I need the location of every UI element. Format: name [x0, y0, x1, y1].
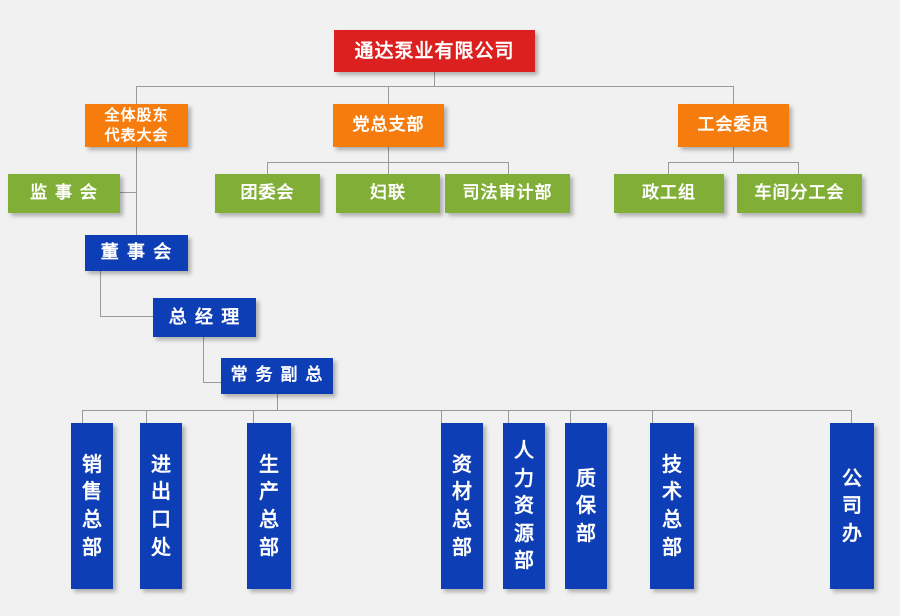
node-party-branch[interactable]: 党总支部	[333, 104, 444, 147]
node-youth-league-label: 团委会	[241, 183, 295, 205]
node-executive-vp[interactable]: 常 务 副 总	[221, 358, 333, 394]
node-department-label: 生产总部	[259, 451, 279, 561]
connector-drop-dept-4	[508, 410, 509, 423]
node-department-label: 质保部	[576, 465, 596, 548]
node-department-company-office[interactable]: 公司办	[830, 423, 874, 589]
connector-drop-union	[733, 86, 734, 104]
connector-drop-dept-0	[82, 410, 83, 423]
node-general-manager-label: 总 经 理	[169, 306, 241, 329]
node-judicial-audit[interactable]: 司法审计部	[445, 174, 570, 213]
node-company-label: 通达泵业有限公司	[354, 39, 514, 63]
connector-company-stem	[434, 72, 435, 86]
node-youth-league[interactable]: 团委会	[215, 174, 320, 213]
connector-drop-dept-1	[146, 410, 147, 423]
node-department-human-resources[interactable]: 人力资源部	[503, 423, 545, 589]
connector-shareholders-stem	[136, 147, 137, 235]
node-supervisory-board-label: 监 事 会	[30, 183, 98, 205]
node-union-committee[interactable]: 工会委员	[678, 104, 789, 147]
connector-drop-dept-2	[253, 410, 254, 423]
node-company[interactable]: 通达泵业有限公司	[334, 30, 535, 72]
node-womens-federation-label: 妇联	[370, 183, 406, 205]
connector-board-to-gm	[100, 316, 153, 317]
node-department-import-export[interactable]: 进出口处	[140, 423, 182, 589]
connector-union-bus	[668, 162, 798, 163]
node-executive-vp-label: 常 务 副 总	[231, 365, 324, 387]
node-department-materials[interactable]: 资材总部	[441, 423, 483, 589]
connector-drop-womens-federation	[388, 162, 389, 174]
connector-drop-dept-3	[441, 410, 442, 423]
node-womens-federation[interactable]: 妇联	[336, 174, 440, 213]
connector-board-stem	[100, 271, 101, 316]
connector-drop-judicial-audit	[508, 162, 509, 174]
node-union-committee-label: 工会委员	[698, 115, 770, 137]
node-board-of-directors-label: 董 事 会	[101, 241, 173, 264]
node-department-label: 资材总部	[452, 451, 472, 561]
node-board-of-directors[interactable]: 董 事 会	[85, 235, 188, 271]
connector-drop-dept-5	[570, 410, 571, 423]
node-supervisory-board[interactable]: 监 事 会	[8, 174, 120, 213]
connector-drop-dept-6	[652, 410, 653, 423]
connector-level1-bus	[136, 86, 734, 87]
node-general-manager[interactable]: 总 经 理	[153, 298, 256, 337]
node-department-label: 公司办	[842, 465, 862, 548]
node-shareholders[interactable]: 全体股东 代表大会	[85, 104, 188, 147]
node-department-label: 进出口处	[151, 451, 171, 561]
node-workshop-union[interactable]: 车间分工会	[737, 174, 862, 213]
node-department-label: 人力资源部	[514, 437, 534, 575]
node-department-label: 技术总部	[662, 451, 682, 561]
connector-drop-party	[388, 86, 389, 104]
node-department-technology[interactable]: 技术总部	[650, 423, 694, 589]
node-department-sales[interactable]: 销售总部	[71, 423, 113, 589]
connector-gm-to-evp	[203, 382, 222, 383]
connector-drop-youth-league	[267, 162, 268, 174]
node-shareholders-label-line1: 全体股东	[104, 106, 168, 125]
node-department-quality-assurance[interactable]: 质保部	[565, 423, 607, 589]
node-judicial-audit-label: 司法审计部	[463, 183, 553, 205]
node-shareholders-label-line2: 代表大会	[104, 126, 168, 145]
connector-departments-bus	[82, 410, 851, 411]
connector-gm-stem	[203, 337, 204, 382]
node-workshop-union-label: 车间分工会	[755, 183, 845, 205]
node-department-label: 销售总部	[82, 451, 102, 561]
node-party-branch-label: 党总支部	[353, 115, 425, 137]
node-department-production[interactable]: 生产总部	[247, 423, 291, 589]
connector-drop-workshop-union	[798, 162, 799, 174]
connector-drop-political-group	[668, 162, 669, 174]
connector-evp-stem	[277, 394, 278, 410]
node-political-group[interactable]: 政工组	[614, 174, 724, 213]
node-political-group-label: 政工组	[642, 183, 696, 205]
connector-drop-shareholders	[136, 86, 137, 104]
connector-drop-dept-7	[851, 410, 852, 423]
connector-union-stem	[733, 147, 734, 162]
connector-party-stem	[388, 147, 389, 162]
connector-to-supervisory-board	[120, 192, 137, 193]
org-chart: 通达泵业有限公司 全体股东 代表大会 党总支部 工会委员 监 事 会 团委会 妇…	[0, 0, 900, 616]
